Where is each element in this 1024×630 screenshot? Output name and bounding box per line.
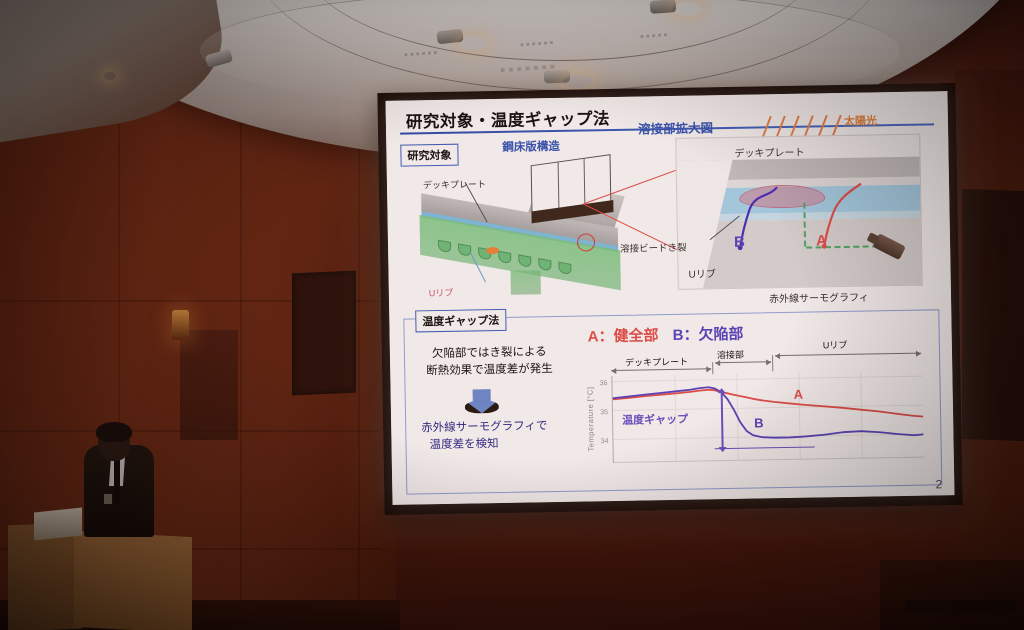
segment-divider [712, 362, 713, 374]
point-a-label: A [816, 232, 827, 249]
legend-a: A：健全部 [587, 324, 658, 346]
method-text-line-2: 断熱効果で温度差が発生 [426, 361, 553, 380]
segment-label-deck: デッキプレート [625, 355, 688, 369]
wall-panel-dark [962, 189, 1024, 441]
laptop [34, 507, 82, 540]
weld-deck-plate-label: デッキプレート [734, 144, 804, 160]
slide-title: 研究対象・温度ギャップ法 [406, 105, 610, 133]
ceiling-spotlight [672, 2, 702, 16]
ceiling-spotlight [104, 72, 116, 80]
chart-y-tick: 36 [591, 380, 607, 387]
segment-divider [772, 355, 773, 371]
screenshot-root: ▪▪▪▪▪▪ ▪▪▪▪▪▪ ▪▪▪▪▪▪▪ ▪▪▪▪▪ 研究対象・温度ギャップ法… [0, 0, 1024, 630]
ceiling-reflection-text: ▪▪▪▪▪▪ [404, 47, 440, 61]
point-b-label: B [734, 234, 745, 251]
wall-seam [358, 130, 360, 630]
bridge-pier [511, 270, 541, 295]
wall-lamp [172, 310, 189, 340]
chart-label-a: A [794, 387, 804, 402]
thermography-label: 赤外線サーモグラフィ [769, 289, 869, 306]
ceiling-reflection-text: ▪▪▪▪▪▪ [520, 37, 556, 51]
chart-label-b: B [754, 415, 764, 430]
weld-u-rib-label: Uリブ [688, 265, 715, 280]
temperature-gap-box-label: 温度ギャップ法 [415, 309, 506, 333]
ceiling-reflection-text: ▪▪▪▪▪ [640, 29, 670, 43]
presenter-badge [104, 494, 112, 504]
method-text-line-3: 赤外線サーモグラフィで [421, 418, 548, 437]
segment-span-weld [715, 361, 771, 363]
steel-deck-structure-title: 鋼床版構造 [502, 138, 560, 155]
wall-panel-dark [292, 271, 356, 396]
method-text-line-4: 温度差を検知 [429, 436, 498, 454]
wall-alcove [180, 330, 238, 440]
wall-seam [240, 120, 242, 630]
deck-plate-label: デッキプレート [423, 177, 486, 191]
presenter-tie [114, 458, 120, 506]
chart-y-tick: 34 [592, 438, 608, 445]
temperature-gap-label: 温度ギャップ [622, 411, 688, 428]
weld-bead-crack-label: 溶接ビードき裂 [620, 240, 687, 255]
chart-y-tick: 35 [592, 409, 608, 416]
presenter-hair [96, 422, 132, 442]
podium [74, 531, 192, 630]
slide-page-number: 2 [935, 477, 942, 491]
legend-b: B：欠陥部 [672, 323, 743, 345]
slide-content: 研究対象・温度ギャップ法 研究対象 鋼床版構造 [386, 91, 955, 505]
floor-strip [880, 560, 1024, 630]
segment-label-urib: Uリブ [823, 338, 848, 351]
temperature-profile-chart: Temperature [°C] 36 35 34 デッキプレート 溶接部 Uリ… [587, 347, 929, 473]
ceiling-spotlight [458, 36, 488, 50]
segment-label-weld: 溶接部 [717, 348, 744, 361]
sunlight-label: 太陽光 [844, 112, 877, 129]
projection-screen: 研究対象・温度ギャップ法 研究対象 鋼床版構造 [386, 91, 955, 505]
chart-y-axis-label: Temperature [°C] [585, 376, 596, 462]
segment-span-urib [775, 353, 921, 357]
ceiling-spotlight [563, 74, 593, 88]
method-text-line-1: 欠陥部ではき裂による [432, 344, 547, 363]
u-rib-label: Uリブ [429, 286, 454, 299]
probe-path-a [805, 182, 866, 253]
wall-vent [905, 600, 1015, 614]
weld-zoom-title: 溶接部拡大図 [638, 117, 713, 137]
